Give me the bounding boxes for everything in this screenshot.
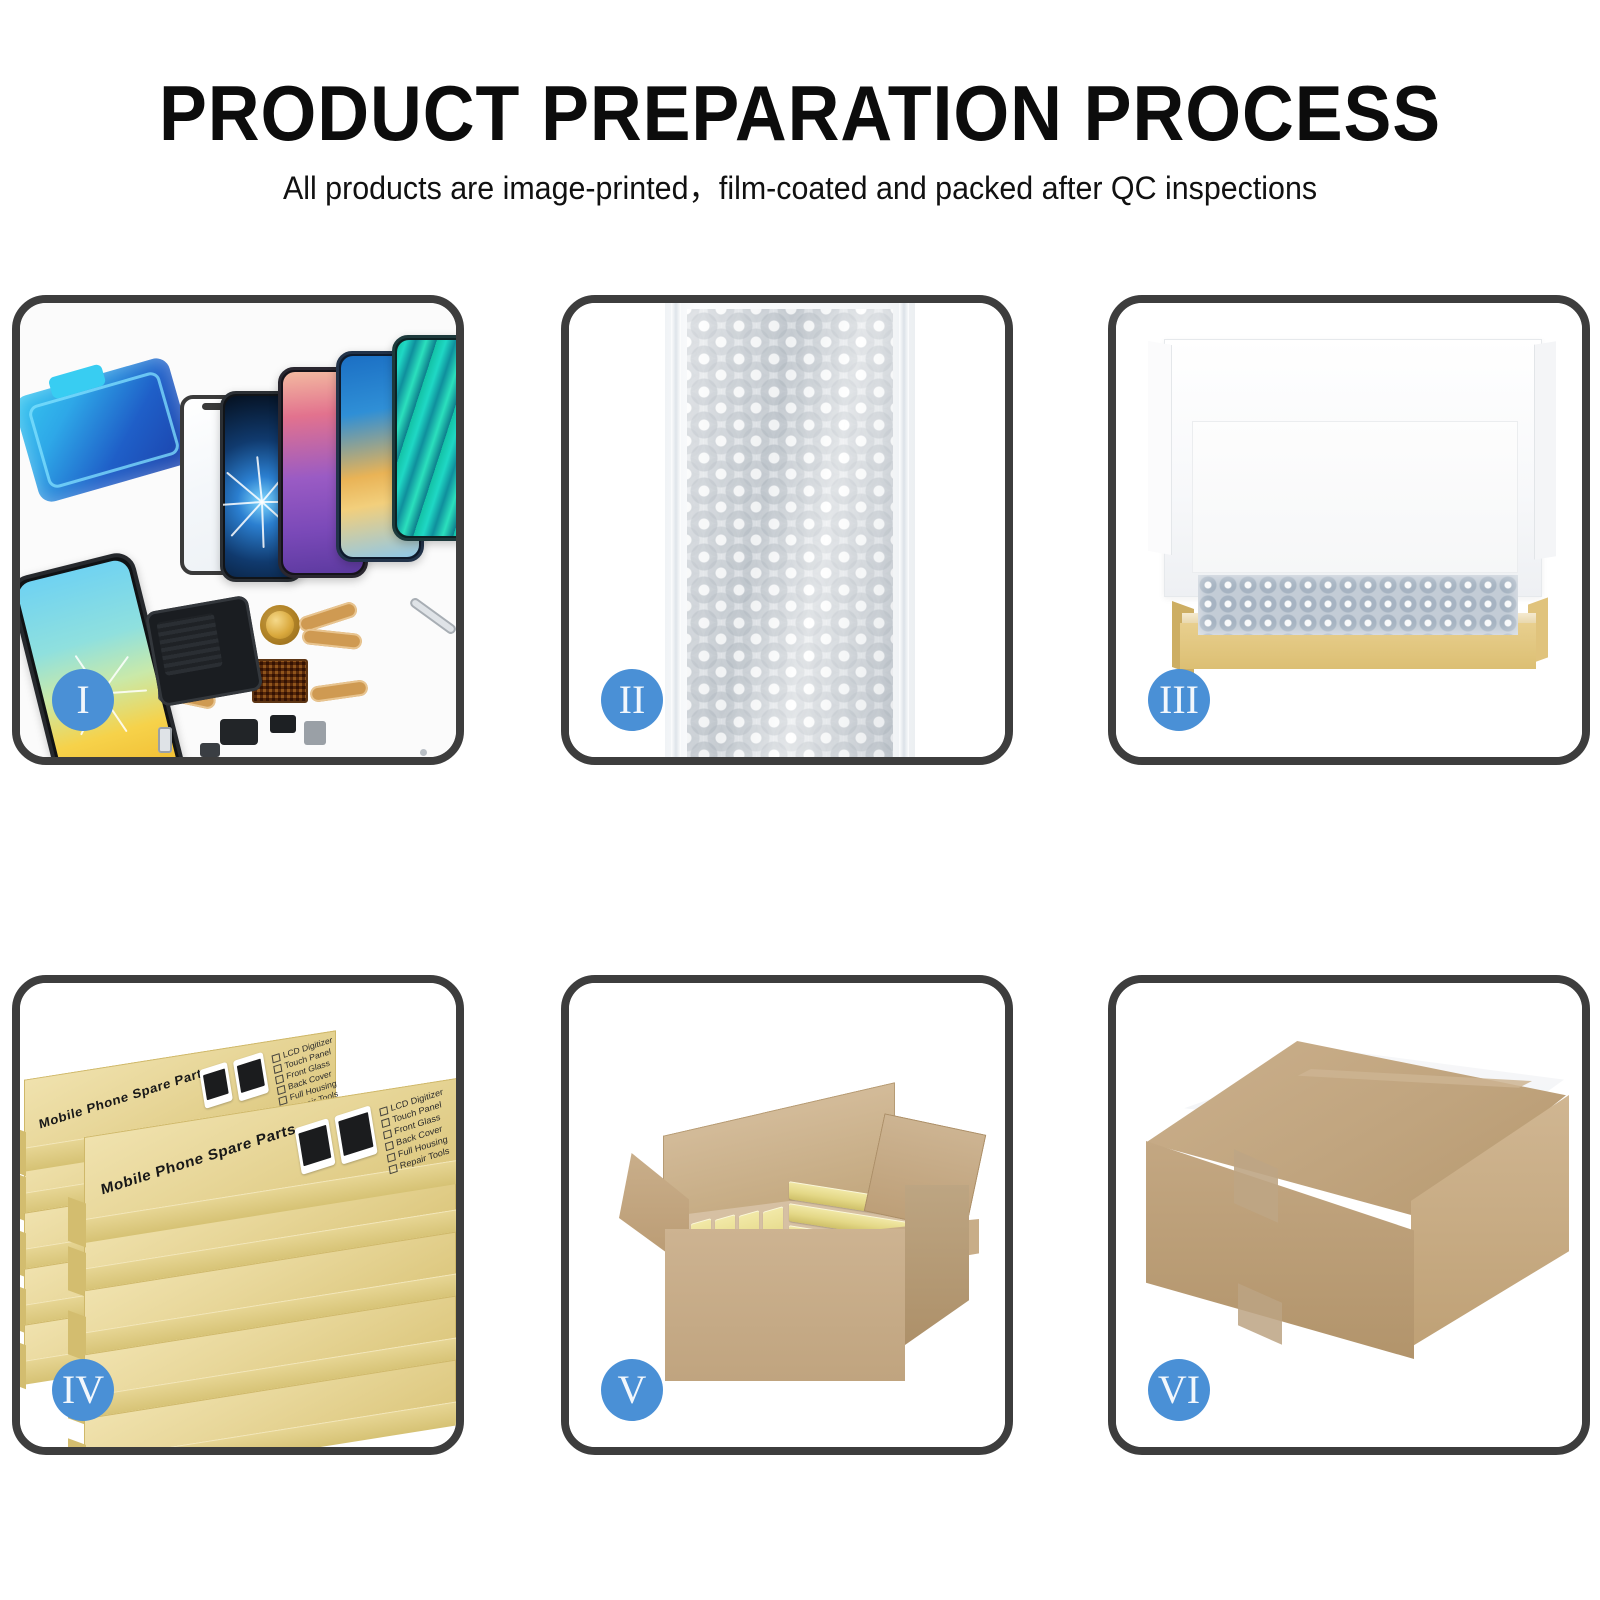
vibrator-part [304,721,326,745]
step-panel-2[interactable]: II [561,295,1013,765]
open-shipping-carton [621,1067,971,1397]
step-badge-1: I [52,669,114,731]
step-badge-5: V [601,1359,663,1421]
step-badge-3: III [1148,669,1210,731]
infographic-page: PRODUCT PREPARATION PROCESS All products… [0,0,1600,1600]
carton-front-face [665,1229,905,1381]
step-badge-2: II [601,669,663,731]
foam-insert [1192,421,1518,573]
connector-part [200,743,220,757]
bag-seam [671,303,681,757]
step-panel-4[interactable]: Mobile Phone Spare Parts LCD Digitizer T… [12,975,464,1455]
back-housing-part [144,595,263,708]
step-badge-4: IV [52,1359,114,1421]
flex-cable-part [309,679,369,703]
bubble-wrap-bag [665,303,915,757]
page-title: PRODUCT PREPARATION PROCESS [64,74,1536,152]
small-module-part [270,715,296,733]
repair-tool-part [408,596,456,636]
flex-cable-part [301,628,362,650]
loudspeaker-part [220,719,258,745]
bubble-wrapped-product [1198,575,1518,635]
sealed-shipping-carton [1146,1041,1566,1381]
wireless-coil-part [260,605,300,645]
step-badge-6: VI [1148,1359,1210,1421]
bubble-grid [687,309,893,757]
sim-tray-part [158,727,172,753]
small-components-group [152,603,456,757]
bag-seam [899,303,909,757]
step-panel-5[interactable]: V [561,975,1013,1455]
step-panel-6[interactable]: VI [1108,975,1590,1455]
step-panel-3[interactable]: III [1108,295,1590,765]
phone-teal-display [392,335,456,541]
adhesive-frame-part [20,355,196,505]
carton-right-face [905,1185,969,1345]
page-subtitle: All products are image-printed，film-coat… [40,170,1560,206]
step-panel-1[interactable]: I [12,295,464,765]
header: PRODUCT PREPARATION PROCESS All products… [0,0,1600,250]
